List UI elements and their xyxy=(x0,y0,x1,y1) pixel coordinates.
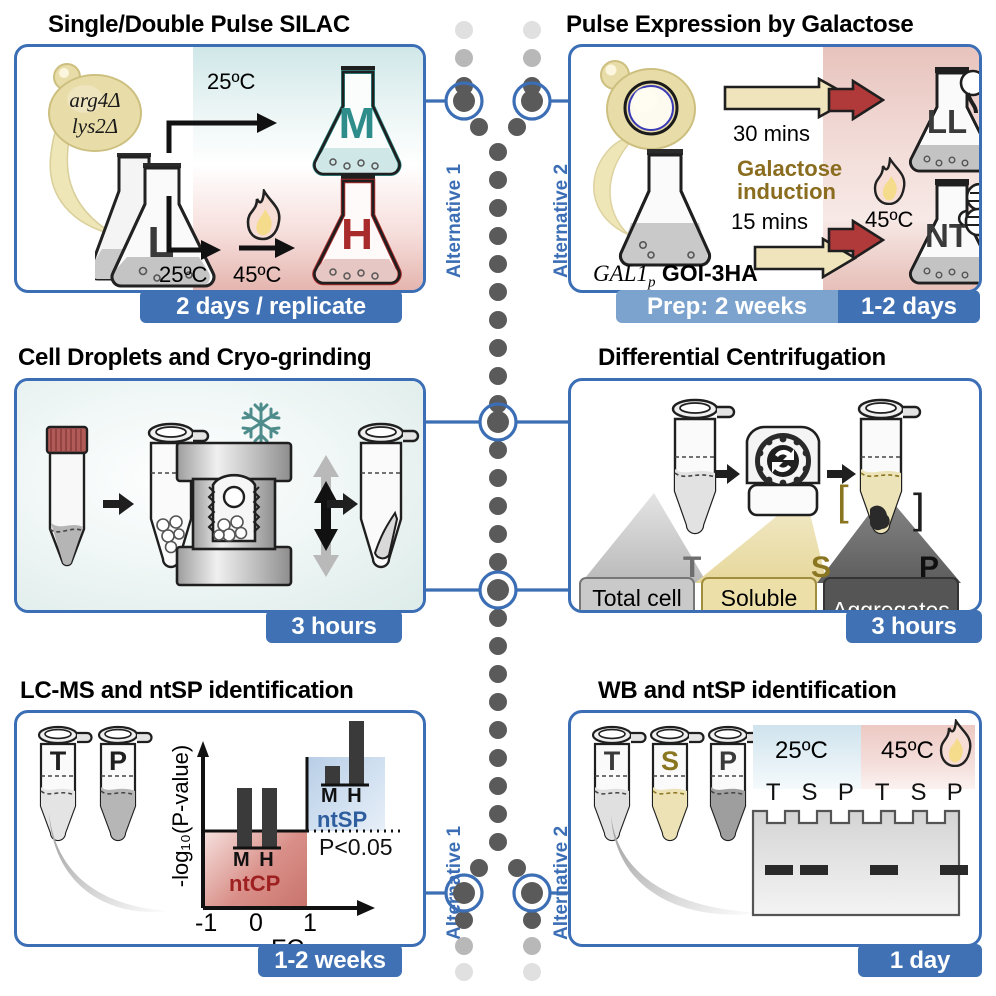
chart-ylabel-text: -log₁₀(P-value) xyxy=(168,745,193,887)
sick-person-icon xyxy=(956,69,982,127)
chart-threshold-label: P<0.05 xyxy=(319,834,393,861)
gel-lane-labels: T S P T S P xyxy=(755,779,973,807)
gel-lane-label-3: P xyxy=(828,779,864,807)
chart-ntSP-label: ntSP xyxy=(317,807,367,833)
alt-label-2-bottom: Alternative 2 xyxy=(551,826,573,940)
panel-title-galactose: Pulse Expression by Galactose xyxy=(566,11,913,39)
alt-label-1-top: Alternative 1 xyxy=(444,164,466,278)
chart-ntSP-sublabel: M H xyxy=(321,785,364,808)
chart-ntCP-sublabel: M H xyxy=(233,849,276,872)
fraction-label-S-1: Soluble xyxy=(721,586,798,610)
panel-title-silac: Single/Double Pulse SILAC xyxy=(48,11,350,39)
galactose-induction-label: Galactose induction xyxy=(737,157,842,204)
chart-ylabel: -log₁₀(P-value) xyxy=(168,736,194,896)
flask-H-icon: H xyxy=(303,171,411,289)
panel-title-lcms: LC-MS and ntSP identification xyxy=(20,677,354,705)
condition-temp-45c: 45ºC xyxy=(881,737,934,765)
chart-axes xyxy=(167,719,417,941)
galactose-induction-line2: induction xyxy=(737,180,842,203)
temp-label-top: 25ºC xyxy=(207,69,255,95)
western-blot-gel-icon xyxy=(751,809,977,917)
time-label-30mins: 30 mins xyxy=(733,121,810,147)
chart-xtick--1: -1 xyxy=(195,909,217,938)
panel-centrifugation: [ ] T S P Total cell lysate Soluble frac… xyxy=(568,378,982,613)
condition-temp-25c: 25ºC xyxy=(775,737,828,765)
centrifuge-arrow-in xyxy=(715,463,741,485)
wb-tube-label-T: T xyxy=(604,746,621,776)
temp-label-bottom-1: 25ºC xyxy=(159,262,207,288)
gel-lane-label-5: S xyxy=(900,779,936,807)
flame-icon xyxy=(243,189,285,241)
sample-flow-swoosh xyxy=(45,811,175,921)
lcms-tube-label-P: P xyxy=(109,746,127,776)
fraction-box-T: Total cell lysate xyxy=(579,577,695,613)
panel-title-centrifugation: Differential Centrifugation xyxy=(598,344,886,372)
wb-sample-flow-swoosh xyxy=(607,813,767,923)
branch-arrow-bottom xyxy=(165,192,235,262)
panel-silac: arg4Δ lys2Δ L 25ºC 25ºC xyxy=(14,44,426,293)
duration-badge-wb: 1 day xyxy=(858,944,982,977)
flame-icon-wb xyxy=(937,719,975,767)
fraction-box-S: Soluble fraction xyxy=(701,577,817,613)
bracket-right: ] xyxy=(913,485,925,533)
lcms-tube-label-T: T xyxy=(50,746,67,776)
fraction-label-T-2: lysate xyxy=(607,610,667,613)
construct-label: GAL1p GOI-3HA xyxy=(593,260,758,292)
fraction-label-S-2: fraction xyxy=(721,610,796,613)
gel-lane-label-4: T xyxy=(864,779,900,807)
heat-arrow-top xyxy=(827,79,885,121)
temp-label-bottom-2: 45ºC xyxy=(233,262,281,288)
cryo-mill-icon xyxy=(169,439,299,589)
panel-cryo xyxy=(14,378,426,613)
centrifuge-icon xyxy=(737,425,829,527)
flask-label-M: M xyxy=(339,99,376,148)
construct-sub-p: p xyxy=(648,275,656,291)
construct-goi: GOI-3HA xyxy=(662,260,758,286)
flask-source-icon xyxy=(609,145,723,271)
ground-powder-tube-icon xyxy=(347,417,421,577)
fraction-label-T-1: Total cell xyxy=(592,586,681,610)
duration-badge-silac: 2 days / replicate xyxy=(140,290,402,323)
duration-badge-lcms: 1-2 weeks xyxy=(258,944,402,977)
gel-lane-label-2: S xyxy=(791,779,827,807)
falcon-tube-icon xyxy=(41,423,93,568)
flask-M-icon: M xyxy=(303,62,411,177)
genotype-arg4: arg4Δ xyxy=(69,88,120,112)
chart-xtick-1: 1 xyxy=(303,909,317,938)
duration-badge-cryo: 3 hours xyxy=(266,610,402,643)
time-label-15mins: 15 mins xyxy=(731,209,808,235)
chart-xtick-0: 0 xyxy=(249,909,263,938)
panel-lcms: T P xyxy=(14,710,426,947)
construct-gal1: GAL1 xyxy=(593,261,648,286)
branch-arrow-heat xyxy=(237,235,299,261)
panel-title-cryo: Cell Droplets and Cryo-grinding xyxy=(18,344,371,372)
fraction-box-P: Aggregates xyxy=(823,577,959,613)
gel-lane-label-1: T xyxy=(755,779,791,807)
mummy-person-icon xyxy=(956,183,982,239)
duration-badge-run: 1-2 days xyxy=(838,290,980,323)
alt-label-2-top: Alternative 2 xyxy=(551,164,573,278)
arrow-step-1 xyxy=(103,491,135,517)
bracket-left: [ xyxy=(837,477,849,525)
wb-tube-label-P: P xyxy=(719,746,737,776)
duration-badge-galactose: Prep: 2 weeks 1-2 days xyxy=(616,290,980,323)
alt-label-1-bottom: Alternative 1 xyxy=(444,826,466,940)
flask-label-H: H xyxy=(341,210,373,259)
duration-badge-prep: Prep: 2 weeks xyxy=(616,290,838,323)
chart-ntCP-label: ntCP xyxy=(229,871,280,897)
branch-arrow-top xyxy=(165,109,285,157)
panel-galactose: GAL1p GOI-3HA 30 mins Galactose inductio… xyxy=(568,44,982,293)
galactose-induction-line1: Galactose xyxy=(737,157,842,180)
duration-badge-centrifugation: 3 hours xyxy=(846,610,982,643)
genotype-lys2: lys2Δ xyxy=(72,114,118,138)
wb-tube-label-S: S xyxy=(661,746,679,776)
panel-title-wb: WB and ntSP identification xyxy=(598,677,896,705)
panel-wb: T S P 25ºC 45ºC T S P T xyxy=(568,710,982,947)
volcano-chart: -log₁₀(P-value) M H ntCP M H ntSP P<0.05… xyxy=(167,719,417,941)
gel-lane-label-6: P xyxy=(937,779,973,807)
